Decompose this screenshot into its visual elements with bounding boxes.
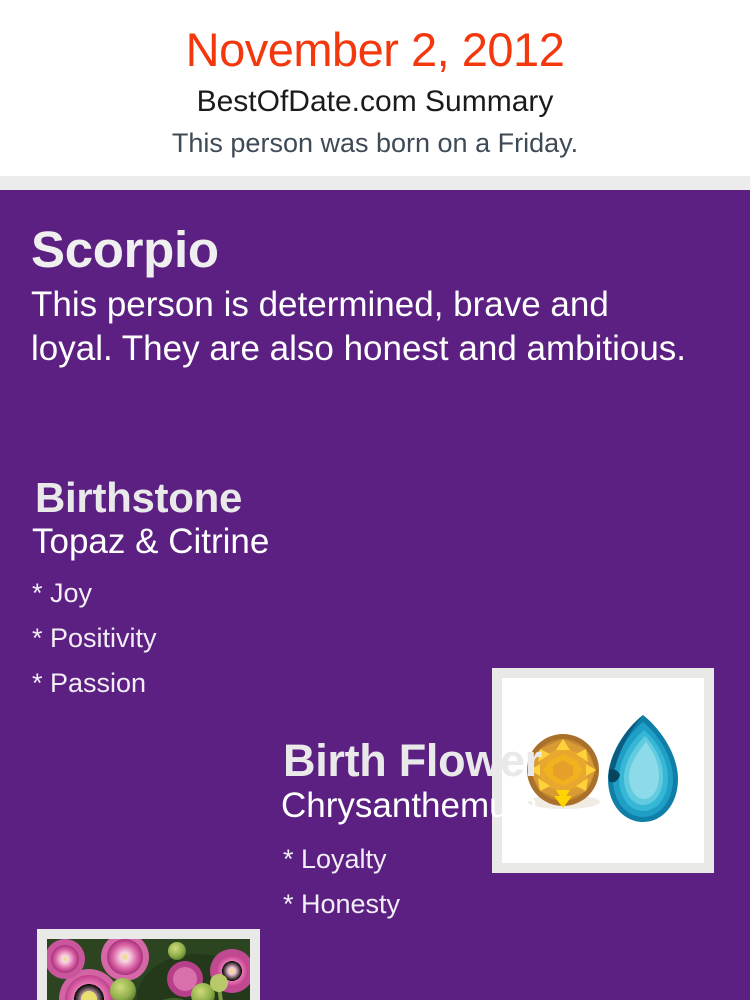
page-title: November 2, 2012 (0, 22, 750, 78)
list-item: * Loyalty (283, 837, 733, 882)
zodiac-sign-name: Scorpio (31, 221, 711, 279)
birth-flower-trait-list: * Loyalty * Honesty (283, 837, 733, 927)
page-header: November 2, 2012 BestOfDate.com Summary … (0, 0, 750, 176)
list-item: * Joy (32, 571, 475, 616)
chrysanthemum-icon (47, 939, 250, 1000)
birth-flower-section: Birth Flower Chrysanthemum * Loyalty * H… (283, 734, 733, 927)
birthstone-section: Birthstone Topaz & Citrine * Joy * Posit… (35, 473, 475, 706)
list-item: * Positivity (32, 616, 475, 661)
birth-flower-name: Chrysanthemum (281, 785, 733, 827)
site-summary-label: BestOfDate.com Summary (0, 84, 750, 120)
summary-panel: Scorpio This person is determined, brave… (0, 190, 750, 1000)
birthstone-heading: Birthstone (35, 473, 475, 523)
zodiac-description: This person is determined, brave and loy… (31, 283, 691, 371)
zodiac-section: Scorpio This person is determined, brave… (31, 221, 711, 371)
birth-flower-image-frame (37, 929, 260, 1000)
list-item: * Passion (32, 661, 475, 706)
birth-flower-heading: Birth Flower (283, 734, 733, 788)
birthstone-names: Topaz & Citrine (32, 521, 475, 563)
birth-day-note: This person was born on a Friday. (0, 126, 750, 160)
birth-flower-image (47, 939, 250, 1000)
summary-page: November 2, 2012 BestOfDate.com Summary … (0, 0, 750, 1000)
list-item: * Honesty (283, 882, 733, 927)
header-divider (0, 176, 750, 190)
birthstone-trait-list: * Joy * Positivity * Passion (32, 571, 475, 706)
